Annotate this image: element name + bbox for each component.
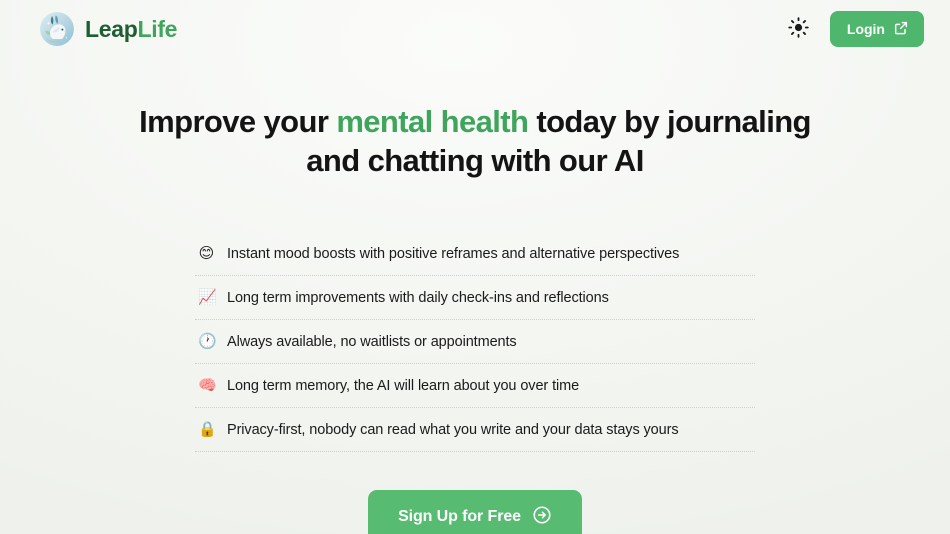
login-button[interactable]: Login — [830, 11, 924, 47]
brand-name-part2: Life — [137, 16, 177, 42]
brand-name-part1: Leap — [85, 16, 137, 42]
lock-emoji: 🔒 — [198, 422, 215, 437]
list-item-label: Long term improvements with daily check-… — [227, 290, 609, 306]
sign-up-button[interactable]: Sign Up for Free — [368, 490, 582, 534]
external-link-icon — [893, 20, 909, 38]
list-item: 📈 Long term improvements with daily chec… — [195, 276, 755, 320]
list-item-label: Instant mood boosts with positive refram… — [227, 246, 679, 262]
feature-list: 😊 Instant mood boosts with positive refr… — [195, 232, 755, 452]
header-actions: Login — [786, 11, 924, 47]
list-item-label: Long term memory, the AI will learn abou… — [227, 378, 579, 394]
list-item: 🔒 Privacy-first, nobody can read what yo… — [195, 408, 755, 452]
hero-section: Improve your mental health today by jour… — [0, 58, 950, 534]
page-header: LeapLife Login — [0, 0, 950, 58]
brand-logo-link[interactable]: LeapLife — [40, 12, 177, 46]
login-button-label: Login — [847, 22, 885, 36]
list-item: 🕐 Always available, no waitlists or appo… — [195, 320, 755, 364]
brand-name: LeapLife — [85, 18, 177, 41]
headline-accent: mental health — [336, 104, 528, 139]
sign-up-button-label: Sign Up for Free — [398, 509, 521, 525]
brain-emoji: 🧠 — [198, 378, 215, 393]
theme-toggle-button[interactable] — [786, 16, 812, 42]
list-item: 🧠 Long term memory, the AI will learn ab… — [195, 364, 755, 408]
headline-part1: Improve your — [139, 104, 336, 139]
chart-increasing-emoji: 📈 — [198, 290, 215, 305]
page-title: Improve your mental health today by jour… — [125, 102, 825, 180]
clock-emoji: 🕐 — [198, 334, 215, 349]
rabbit-logo-icon — [40, 12, 74, 46]
list-item: 😊 Instant mood boosts with positive refr… — [195, 232, 755, 276]
list-item-label: Always available, no waitlists or appoin… — [227, 334, 517, 350]
smiling-face-emoji: 😊 — [198, 246, 215, 261]
cta-container: Sign Up for Free — [0, 490, 950, 534]
arrow-right-circle-icon — [532, 505, 552, 529]
list-item-label: Privacy-first, nobody can read what you … — [227, 422, 678, 438]
sun-icon — [788, 17, 809, 41]
